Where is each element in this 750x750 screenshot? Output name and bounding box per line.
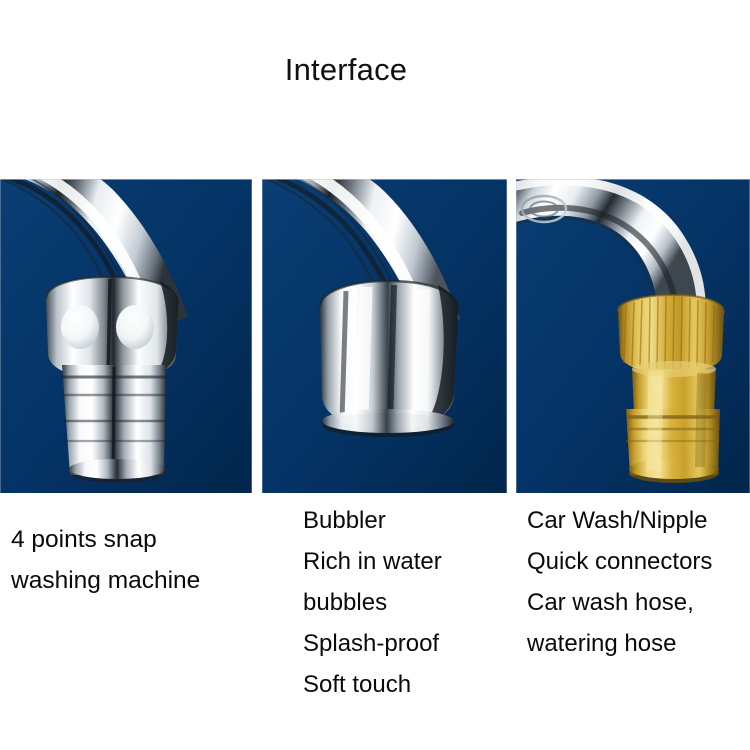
caption-line: Rich in water — [303, 541, 513, 582]
caption-column-bubbler: Bubbler Rich in water bubbles Splash-pro… — [303, 493, 513, 705]
panel-car-wash-nipple — [516, 179, 750, 493]
caption-column-four-point-snap: 4 points snap washing machine — [11, 493, 251, 601]
faucet-spout-with-brass-quick-connector-nipple-image — [516, 179, 750, 493]
caption-line: Car Wash/Nipple — [527, 500, 750, 541]
caption-line: Splash-proof — [303, 623, 513, 664]
caption-column-car-wash-nipple: Car Wash/Nipple Quick connectors Car was… — [527, 493, 750, 664]
product-image-panels — [0, 179, 750, 493]
caption-columns: 4 points snap washing machine Bubbler Ri… — [0, 493, 750, 750]
caption-line: Soft touch — [303, 664, 513, 705]
caption-line: Bubbler — [303, 500, 513, 541]
faucet-spout-with-4-point-snap-connector-image — [0, 179, 252, 493]
caption-line: 4 points snap — [11, 519, 251, 560]
caption-line: watering hose — [527, 623, 750, 664]
panel-bubbler — [262, 179, 507, 493]
caption-line: Quick connectors — [527, 541, 750, 582]
panel-four-point-snap — [0, 179, 252, 493]
caption-line: washing machine — [11, 560, 251, 601]
page-title: Interface — [0, 54, 692, 85]
caption-line: Car wash hose, — [527, 582, 750, 623]
caption-line: bubbles — [303, 582, 513, 623]
faucet-spout-with-bubbler-aerator-image — [262, 179, 507, 493]
